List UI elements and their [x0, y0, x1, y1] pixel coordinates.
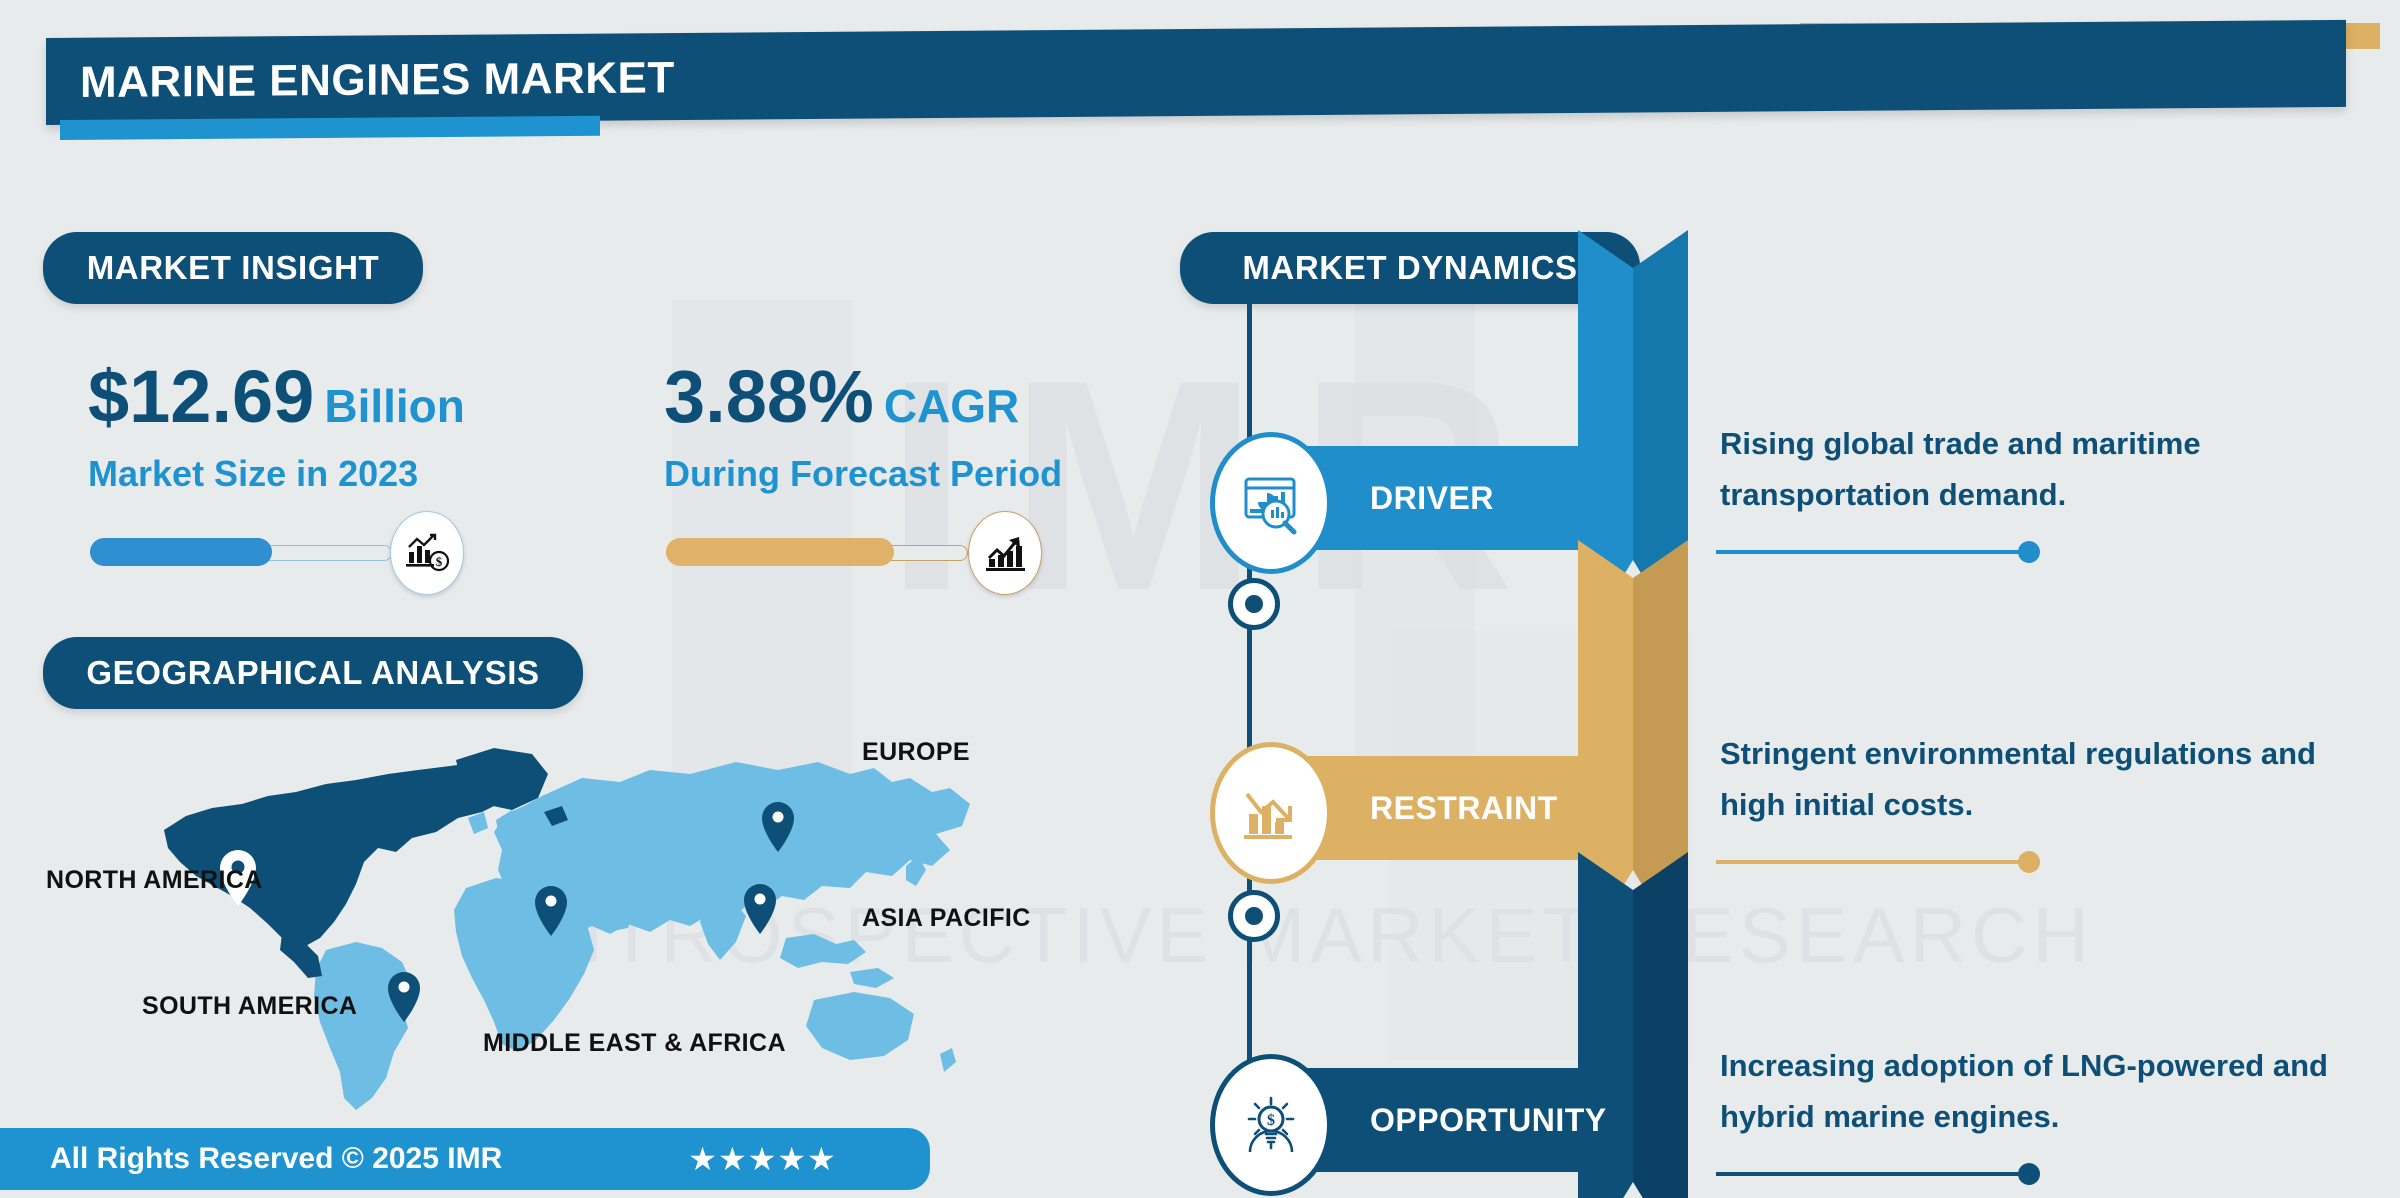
- dashboard-analysis-icon: [1210, 432, 1332, 574]
- kpi-cagr-progress-fill: [666, 538, 894, 566]
- map-label-north-america: NORTH AMERICA: [46, 866, 263, 895]
- opportunity-rule: [1716, 1172, 2032, 1176]
- dynamics-row-opportunity: OPPORTUNITY $: [1200, 1012, 2400, 1198]
- kpi-market-size: $12.69Billion Market Size in 2023: [88, 358, 465, 495]
- declining-bar-chart-icon: [1210, 742, 1332, 884]
- map-label-middle-east-africa: MIDDLE EAST & AFRICA: [483, 1029, 786, 1058]
- kpi-market-size-progress-track: [90, 545, 392, 561]
- kpi-cagr-value: 3.88%: [664, 355, 874, 438]
- chip-market-dynamics: MARKET DYNAMICS: [1180, 232, 1640, 304]
- kpi-cagr-caption: During Forecast Period: [664, 453, 1062, 495]
- map-pin-asia-pacific: [744, 884, 776, 934]
- header-accent-strip: [60, 116, 600, 140]
- kpi-market-size-progress-fill: [90, 538, 272, 566]
- footer-bar: All Rights Reserved © 2025 IMR ★★★★★: [0, 1128, 930, 1190]
- restraint-rule: [1716, 860, 2032, 864]
- kpi-cagr-unit: CAGR: [884, 380, 1019, 432]
- kpi-market-size-caption: Market Size in 2023: [88, 453, 465, 495]
- infographic-canvas: IMR INTROSPECTIVE MARKET RESEARCH MARINE…: [0, 0, 2400, 1198]
- growth-arrow-chart-icon: [968, 511, 1042, 595]
- driver-description: Rising global trade and maritime transpo…: [1720, 418, 2340, 520]
- chip-market-insight: MARKET INSIGHT: [43, 232, 423, 304]
- kpi-market-size-value-row: $12.69Billion: [88, 358, 465, 445]
- driver-label: DRIVER: [1370, 480, 1494, 517]
- kpi-market-size-unit: Billion: [324, 380, 465, 432]
- map-label-south-america: SOUTH AMERICA: [142, 992, 357, 1021]
- kpi-cagr-progress-track: [666, 545, 968, 561]
- restraint-description: Stringent environmental regulations and …: [1720, 728, 2340, 830]
- restraint-rule-dot: [2018, 851, 2040, 873]
- restraint-label: RESTRAINT: [1370, 790, 1558, 827]
- opportunity-description: Increasing adoption of LNG-powered and h…: [1720, 1040, 2340, 1142]
- page-title: MARINE ENGINES MARKET: [80, 35, 1780, 118]
- driver-rule-dot: [2018, 541, 2040, 563]
- kpi-cagr-value-row: 3.88%CAGR: [664, 358, 1062, 445]
- opportunity-rule-dot: [2018, 1163, 2040, 1185]
- dynamics-row-restraint: RESTRAINT Stringent environmental regula…: [1200, 700, 2400, 960]
- dynamics-row-driver: DRIVER Rising global trade and maritime …: [1200, 390, 2400, 650]
- lightbulb-dollar-icon: $: [1210, 1054, 1332, 1196]
- map-label-europe: EUROPE: [862, 738, 970, 767]
- kpi-market-size-value: $12.69: [88, 355, 314, 438]
- opportunity-label: OPPORTUNITY: [1370, 1102, 1607, 1139]
- chip-geographical-analysis: GEOGRAPHICAL ANALYSIS: [43, 637, 583, 709]
- footer-copyright: All Rights Reserved © 2025 IMR: [50, 1142, 502, 1176]
- bar-chart-dollar-icon: $: [390, 511, 464, 595]
- map-label-asia-pacific: ASIA PACIFIC: [862, 904, 1031, 933]
- svg-text:$: $: [436, 554, 443, 569]
- svg-text:$: $: [1267, 1112, 1275, 1129]
- footer-rating-stars: ★★★★★: [688, 1140, 836, 1178]
- driver-rule: [1716, 550, 2032, 554]
- kpi-cagr: 3.88%CAGR During Forecast Period: [664, 358, 1062, 495]
